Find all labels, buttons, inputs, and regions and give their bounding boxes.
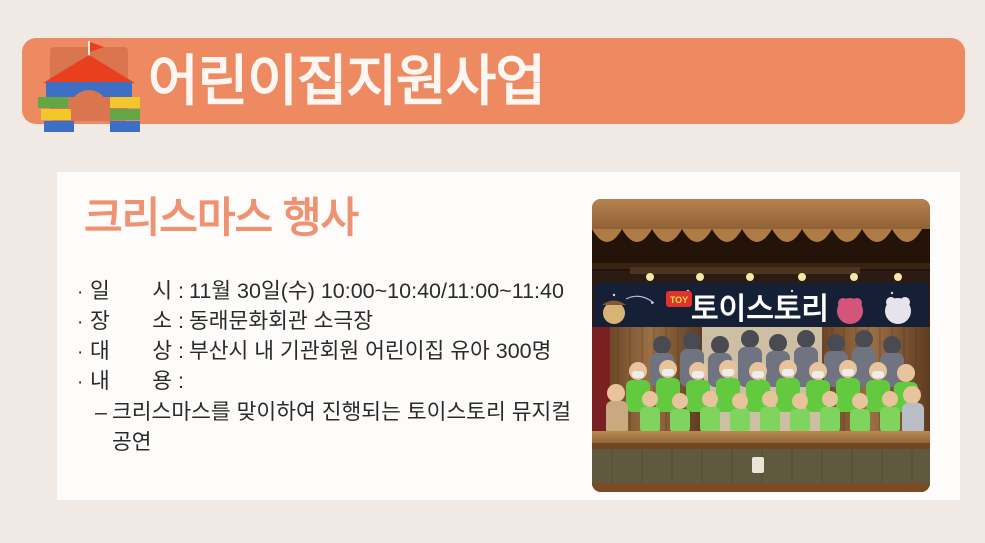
photo-back-row — [650, 330, 904, 387]
detail-list: · 일 시 : 11월 30일(수) 10:00~10:40/11:00~11:… — [77, 277, 597, 457]
detail-label: 장 소 — [90, 307, 178, 335]
detail-label: 대 상 — [90, 337, 178, 365]
playhouse-block-blue-right — [110, 121, 140, 132]
playhouse-block-yellow-left — [41, 109, 71, 120]
christmas-event-group-photo: TOY 토이스토리 — [592, 199, 930, 492]
detail-label-char-a: 내 — [90, 367, 110, 395]
playhouse-arch-door — [70, 90, 108, 121]
header-title: 어린이집지원사업 — [148, 54, 545, 109]
detail-label-char-a: 일 — [90, 277, 110, 305]
content-card: 크리스마스 행사 · 일 시 : 11월 30일(수) 10:00~10:40/… — [57, 172, 960, 500]
svg-text:TOY: TOY — [670, 295, 688, 305]
detail-label-char-a: 대 — [90, 337, 110, 365]
sub-item-row-continued: 공연 — [77, 428, 597, 457]
detail-row-content: · 내 용 : — [77, 367, 597, 397]
detail-separator: : — [178, 367, 189, 395]
detail-value: 11월 30일(수) 10:00~10:40/11:00~11:40 — [189, 277, 597, 305]
bullet-dot: · — [77, 309, 90, 337]
banner-text: 토이스토리 — [691, 293, 829, 326]
header-bar: 어린이집지원사업 — [22, 38, 965, 124]
dash-marker: – — [95, 398, 112, 427]
detail-value: 동래문화회관 소극장 — [189, 307, 597, 335]
page-title: 크리스마스 행사 — [84, 184, 358, 245]
dash-marker-empty — [95, 428, 112, 457]
detail-value: 부산시 내 기관회원 어린이집 유아 300명 — [189, 337, 597, 365]
bullet-dot: · — [77, 369, 90, 397]
bullet-dot: · — [77, 339, 90, 367]
detail-separator: : — [178, 337, 189, 365]
detail-label-char-a: 장 — [90, 307, 110, 335]
sub-item-text: 크리스마스를 맞이하여 진행되는 토이스토리 뮤지컬 — [112, 398, 597, 427]
detail-separator: : — [178, 307, 189, 335]
sub-item-text: 공연 — [112, 428, 597, 457]
detail-row-date: · 일 시 : 11월 30일(수) 10:00~10:40/11:00~11:… — [77, 277, 597, 307]
daycare-playhouse-icon — [34, 41, 144, 121]
photo-illustration: TOY 토이스토리 — [592, 199, 930, 492]
playhouse-block-blue-left — [44, 121, 74, 132]
playhouse-block-yellow-right — [110, 97, 140, 108]
detail-row-location: · 장 소 : 동래문화회관 소극장 — [77, 307, 597, 337]
detail-separator: : — [178, 277, 189, 305]
detail-label: 내 용 — [90, 367, 178, 395]
playhouse-block-green-right — [110, 109, 140, 120]
sub-item-row: – 크리스마스를 맞이하여 진행되는 토이스토리 뮤지컬 — [77, 398, 597, 427]
playhouse-roof — [43, 55, 135, 83]
detail-label-char-b: 용 — [152, 367, 172, 395]
detail-row-audience: · 대 상 : 부산시 내 기관회원 어린이집 유아 300명 — [77, 337, 597, 367]
detail-label: 일 시 — [90, 277, 178, 305]
detail-label-char-b: 상 — [152, 337, 172, 365]
playhouse-flag — [90, 42, 104, 52]
detail-label-char-b: 소 — [152, 307, 172, 335]
playhouse-block-green-left — [38, 97, 68, 108]
bullet-dot: · — [77, 279, 90, 307]
detail-label-char-b: 시 — [152, 277, 172, 305]
